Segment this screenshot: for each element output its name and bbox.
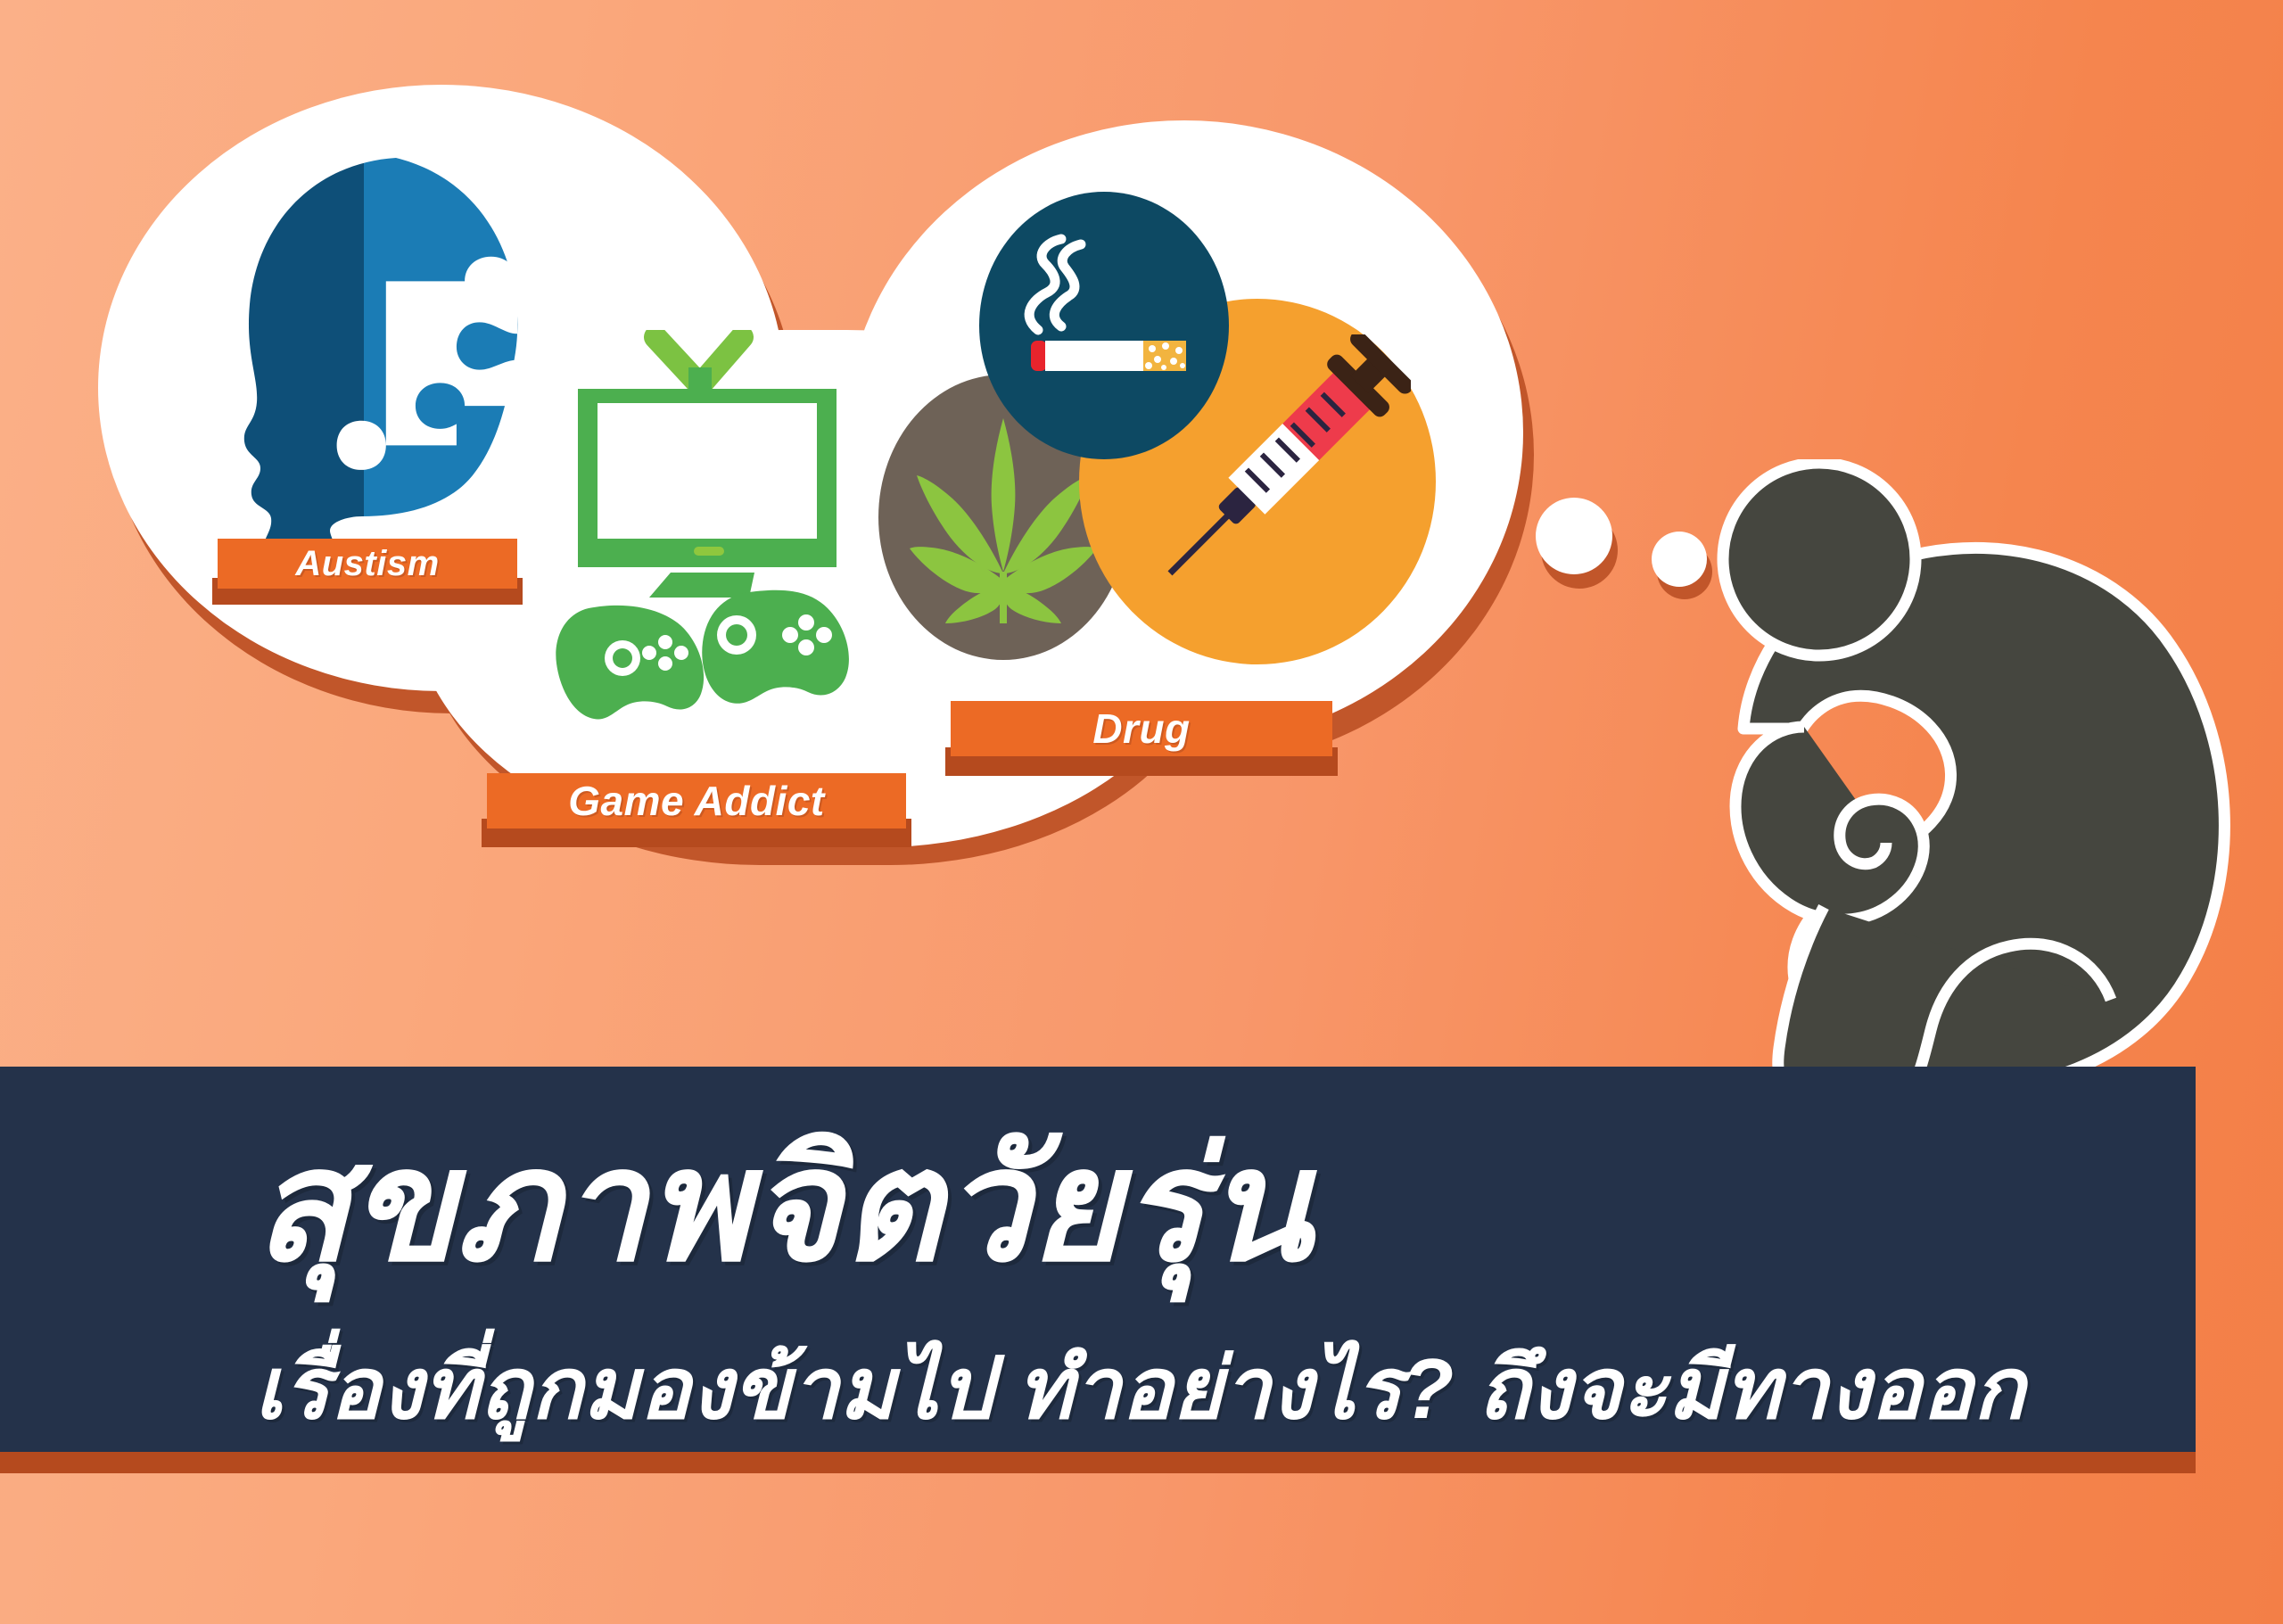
label-game-addict[interactable]: Game Addict <box>487 773 906 828</box>
page-subtitle: เรื่องที่ถูกมองข้ามไป ทำอย่างไร? ถึงจะมี… <box>254 1347 2025 1432</box>
page-title: สุขภาพจิตวัยรุ่น <box>254 1128 1312 1284</box>
curled-person-figure <box>1636 459 2261 1101</box>
cloud-dot-large <box>1536 498 1612 574</box>
headline-band-rule <box>0 1452 2196 1473</box>
label-drug[interactable]: Drug <box>951 701 1332 756</box>
cigarette-icon <box>1006 223 1211 401</box>
label-autism-text: Austism <box>295 544 439 584</box>
head-puzzle-icon <box>205 147 580 593</box>
label-drug-text: Drug <box>1092 705 1190 753</box>
label-game-addict-text: Game Addict <box>568 777 825 825</box>
label-autism[interactable]: Austism <box>218 539 517 589</box>
tv-gamepad-icon <box>535 330 892 731</box>
poster-root: Austism Game Addict Drug สุขภาพจิตวัยรุ่… <box>0 0 2283 1624</box>
